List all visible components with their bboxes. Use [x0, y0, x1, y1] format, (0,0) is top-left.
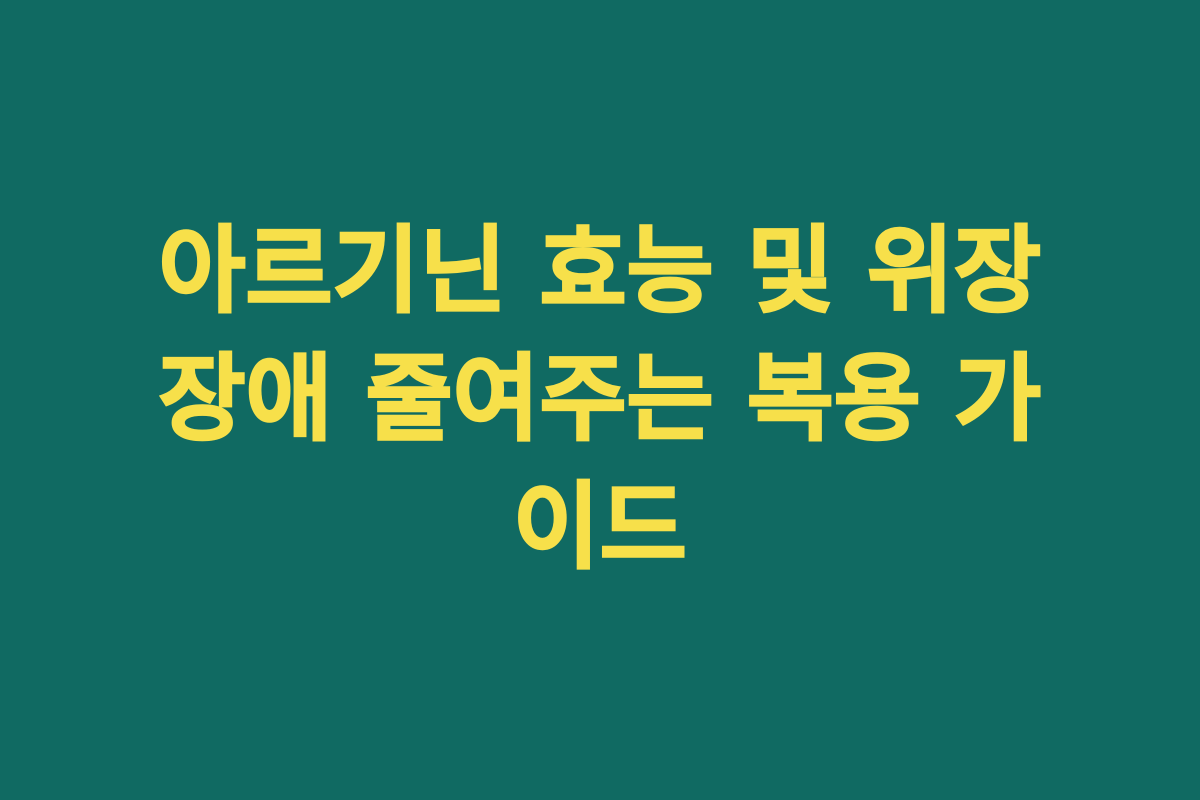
page-title-line-2: 장애 줄여주는 복용 가 [100, 336, 1100, 464]
page-title: 아르기닌 효능 및 위장 장애 줄여주는 복용 가 이드 [100, 208, 1100, 591]
page-title-line-1: 아르기닌 효능 및 위장 [100, 208, 1100, 336]
page-title-line-3: 이드 [100, 464, 1100, 592]
banner-canvas: 아르기닌 효능 및 위장 장애 줄여주는 복용 가 이드 [0, 0, 1200, 800]
